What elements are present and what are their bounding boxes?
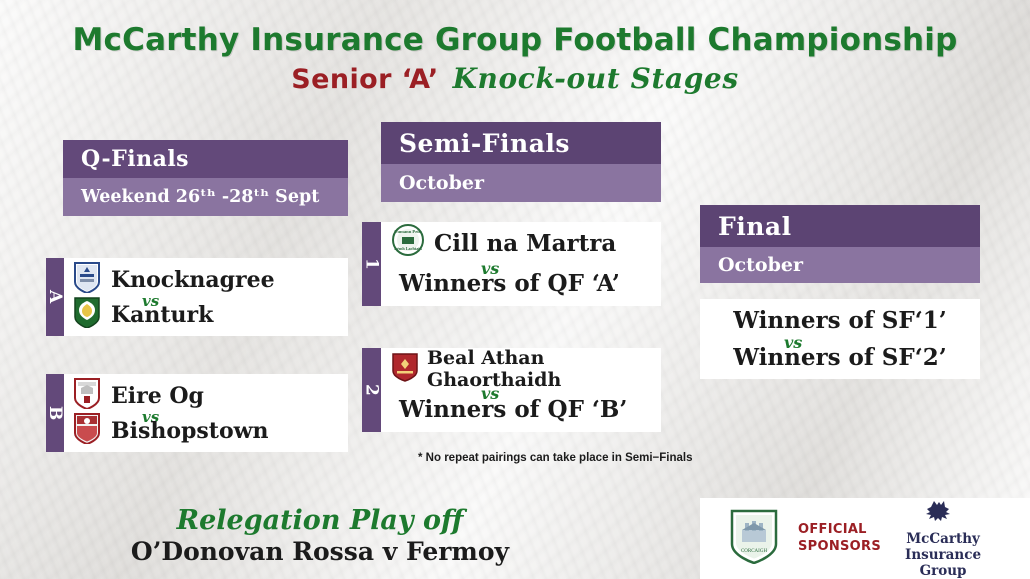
sf-1-away-name: Winners of QF ‘A’ <box>399 270 620 297</box>
final-match: Winners of SF‘1’ vs Winners of SF‘2’ <box>700 299 980 379</box>
qf-match-a: Knocknagree vs Kanturk <box>64 258 348 336</box>
final-away-name: Winners of SF‘2’ <box>733 344 947 371</box>
page-title: McCarthy Insurance Group Football Champi… <box>0 22 1030 58</box>
cill-na-martra-crest: Cumann Peile Lémh Lachtain <box>391 223 425 263</box>
final-subheader: October <box>700 247 980 283</box>
page-subtitle-stage: Knock-out Stages <box>453 62 739 95</box>
svg-text:Cumann Peile: Cumann Peile <box>394 229 422 234</box>
qf-a-home-name: Knocknagree <box>111 267 275 293</box>
official-sponsors-label: OFFICIAL SPONSORS <box>798 522 881 555</box>
semifinals-header: Semi-Finals <box>381 122 661 164</box>
final-away-row: Winners of SF‘2’ <box>700 341 980 373</box>
page-subtitle-grade: Senior ‘A’ <box>291 64 438 95</box>
relegation-title: Relegation Play off <box>0 505 640 536</box>
relegation-teams: O’Donovan Rossa v Fermoy <box>0 537 640 566</box>
sf-tag-2: 2 <box>362 348 381 432</box>
qfinals-header: Q-Finals <box>63 140 348 178</box>
qf-b-home-row: Eire Og <box>72 380 204 412</box>
qf-tag-b: B <box>46 374 64 452</box>
bishopstown-crest <box>72 412 102 450</box>
semifinals-footnote: * No repeat pairings can take place in S… <box>418 452 693 464</box>
final-home-row: Winners of SF‘1’ <box>700 304 980 336</box>
official-line1: OFFICIAL <box>798 522 867 537</box>
sf-1-away-row: Winners of QF ‘A’ <box>399 266 620 300</box>
knocknagree-crest <box>72 261 102 299</box>
qf-b-away-name: Bishopstown <box>111 418 269 444</box>
semifinals-subheader: October <box>381 164 661 202</box>
mcg-logo-block: McCarthy Insurance Group <box>905 498 981 579</box>
sf-tag-1: 1 <box>362 222 381 306</box>
sf-1-home-name: Cill na Martra <box>434 230 616 257</box>
bracket-poster: McCarthy Insurance Group Football Champi… <box>0 0 1030 579</box>
sf-2-away-name: Winners of QF ‘B’ <box>399 396 627 423</box>
page-subtitle: Senior ‘A’Knock-out Stages <box>0 62 1030 95</box>
qf-match-b: Eire Og vs Bishopstown <box>64 374 348 452</box>
sponsor-bar: CORCAIGH OFFICIAL SPONSORS McCarthy Insu… <box>700 498 1030 579</box>
mcg-wordmark: McCarthy Insurance Group <box>905 531 981 579</box>
mcg-line2: Insurance <box>905 547 981 563</box>
eire-og-crest <box>72 377 102 415</box>
qf-a-away-row: Kanturk <box>72 299 213 331</box>
sf-match-2: Beal Athan Ghaorthaidh vs Winners of QF … <box>381 348 661 432</box>
svg-text:Lémh Lachtain: Lémh Lachtain <box>394 246 422 251</box>
qf-b-home-name: Eire Og <box>111 383 204 409</box>
cork-gaa-crest: CORCAIGH <box>728 508 780 569</box>
mcg-stag-logo <box>926 498 960 529</box>
mcg-line3: Group <box>905 563 981 579</box>
qf-tag-a: A <box>46 258 64 336</box>
official-line2: SPONSORS <box>798 539 881 554</box>
mcg-line1: McCarthy <box>905 531 981 547</box>
sf-2-away-row: Winners of QF ‘B’ <box>399 392 627 426</box>
beal-athan-ghaorthaidh-crest <box>391 352 419 387</box>
sf-2-home-name: Beal Athan Ghaorthaidh <box>427 347 661 391</box>
qf-a-home-row: Knocknagree <box>72 264 275 296</box>
kanturk-crest <box>72 296 102 334</box>
final-header: Final <box>700 205 980 247</box>
sf-2-home-row: Beal Athan Ghaorthaidh <box>391 354 661 384</box>
sf-match-1: Cumann Peile Lémh Lachtain Cill na Martr… <box>381 222 661 306</box>
qf-b-away-row: Bishopstown <box>72 415 269 447</box>
qf-a-away-name: Kanturk <box>111 302 213 328</box>
final-home-name: Winners of SF‘1’ <box>733 307 947 334</box>
sf-1-home-row: Cumann Peile Lémh Lachtain Cill na Martr… <box>391 226 616 260</box>
qfinals-subheader: Weekend 26ᵗʰ -28ᵗʰ Sept <box>63 178 348 216</box>
svg-text:CORCAIGH: CORCAIGH <box>741 549 768 554</box>
